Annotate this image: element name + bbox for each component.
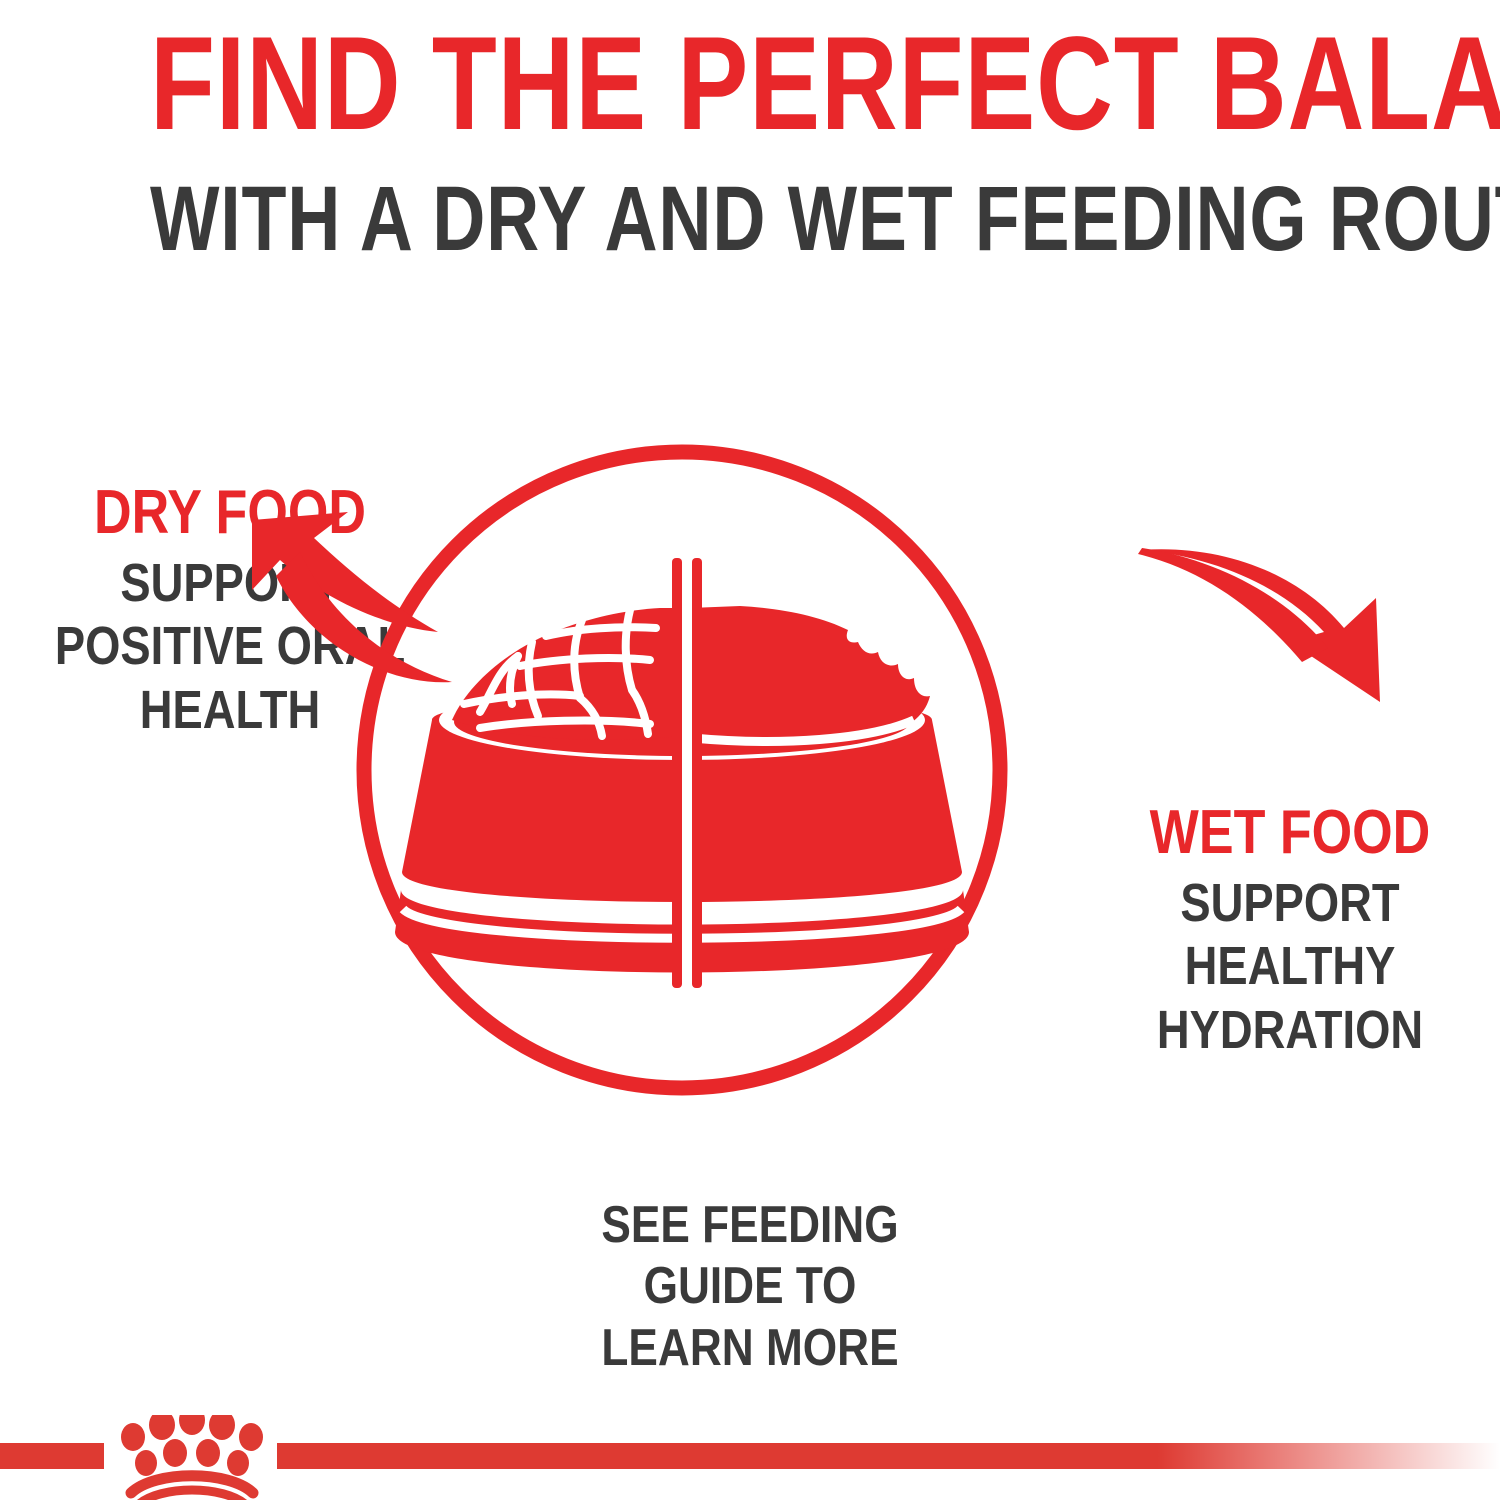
feeding-guide-caption-line-1: SEE FEEDING [521, 1195, 980, 1256]
divider-line-right [692, 558, 702, 988]
feeding-guide-caption-line-3: LEARN MORE [521, 1318, 980, 1379]
divider-line-left [672, 558, 682, 988]
feeding-guide-caption: SEE FEEDING GUIDE TO LEARN MORE [480, 1195, 1020, 1379]
brand-footer-bar [0, 1415, 1500, 1500]
curved-arrow-down-right-icon [1138, 548, 1380, 702]
page-subtitle: WITH A DRY AND WET FEEDING ROUTINE [150, 173, 1350, 265]
royal-canin-crown-icon [121, 1415, 263, 1500]
brand-bar-right [277, 1443, 1500, 1469]
feeding-routine-illustration [180, 420, 1460, 1140]
header-block: FIND THE PERFECT BALANCE WITH A DRY AND … [0, 18, 1500, 265]
feeding-guide-caption-line-2: GUIDE TO [521, 1256, 980, 1317]
dry-kibble-icon [452, 608, 678, 740]
brand-bar-left [0, 1443, 104, 1469]
wet-food-icon [690, 606, 930, 741]
split-pet-food-bowl-icon [395, 558, 969, 988]
page-title: FIND THE PERFECT BALANCE [150, 18, 1350, 151]
